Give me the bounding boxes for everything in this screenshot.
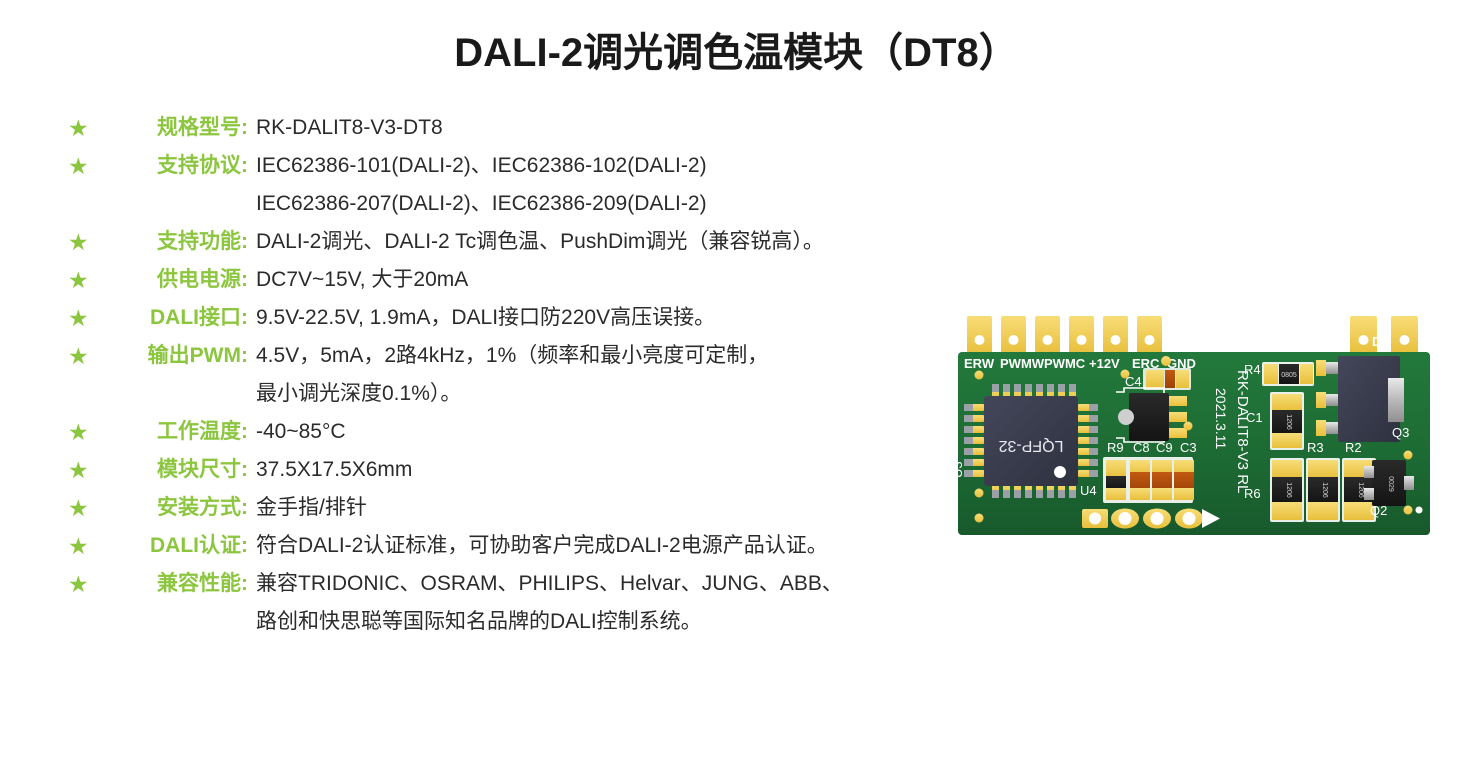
spec-value-line: IEC62386-101(DALI-2)、IEC62386-102(DALI-2… bbox=[256, 150, 1028, 182]
ref-q2: Q2 bbox=[1370, 503, 1387, 518]
spec-label: 兼容性能: bbox=[94, 568, 256, 600]
mcu-lqfp32: LQFP-32 bbox=[964, 384, 1098, 498]
spec-row-compatibility: ★ 兼容性能: 兼容TRIDONIC、OSRAM、PHILIPS、Helvar、… bbox=[68, 568, 1028, 638]
spec-label: 模块尺寸: bbox=[94, 454, 256, 486]
spec-row-mounting: ★ 安装方式: 金手指/排针 bbox=[68, 492, 1028, 524]
resistor-array-bottom: 1206 1206 1206 bbox=[1270, 458, 1376, 522]
star-icon: ★ bbox=[68, 153, 94, 179]
spec-label: 安装方式: bbox=[94, 492, 256, 524]
spec-label: 供电电源: bbox=[94, 264, 256, 296]
spec-value-line: 最小调光深度0.1%）。 bbox=[256, 378, 1028, 410]
spec-value-line: -40~85°C bbox=[256, 416, 1028, 448]
svg-text:0805: 0805 bbox=[1281, 372, 1297, 379]
pad-label-pwmc: PWMC bbox=[1044, 356, 1086, 371]
spec-row-operating-temperature: ★ 工作温度: -40~85°C bbox=[68, 416, 1028, 448]
page-title: DALI-2调光调色温模块（DT8） bbox=[0, 20, 1473, 78]
ref-r9: R9 bbox=[1107, 440, 1124, 455]
spec-row-model: ★ 规格型号: RK-DALIT8-V3-DT8 bbox=[68, 112, 1028, 144]
pad-label-da: DA bbox=[1372, 334, 1391, 349]
spec-value-line: 9.5V-22.5V, 1.9mA，DALI接口防220V高压误接。 bbox=[256, 302, 1028, 334]
star-icon: ★ bbox=[68, 495, 94, 521]
spec-row-pwm-output: ★ 输出PWM: 4.5V，5mA，2路4kHz，1%（频率和最小亮度可定制， … bbox=[68, 340, 1028, 410]
star-icon: ★ bbox=[68, 229, 94, 255]
pcb-gold-fingers bbox=[967, 316, 1418, 354]
spec-row-protocol: ★ 支持协议: IEC62386-101(DALI-2)、IEC62386-10… bbox=[68, 150, 1028, 220]
spec-value: 4.5V，5mA，2路4kHz，1%（频率和最小亮度可定制， 最小调光深度0.1… bbox=[256, 340, 1028, 410]
spec-value-line: 金手指/排针 bbox=[256, 492, 1028, 524]
capacitor-c1: 1206 bbox=[1270, 392, 1304, 450]
spec-value: DC7V~15V, 大于20mA bbox=[256, 264, 1028, 296]
silkscreen-version: RK-DALIT8-V3 RL bbox=[1234, 370, 1251, 493]
capacitor-array bbox=[1103, 457, 1194, 503]
silkscreen-date: 2021.3.11 bbox=[1213, 388, 1229, 449]
spec-label: 规格型号: bbox=[94, 112, 256, 144]
spec-value-line: DC7V~15V, 大于20mA bbox=[256, 264, 1028, 296]
spec-value-line: 兼容TRIDONIC、OSRAM、PHILIPS、Helvar、JUNG、ABB… bbox=[256, 568, 1028, 600]
spec-row-module-size: ★ 模块尺寸: 37.5X17.5X6mm bbox=[68, 454, 1028, 486]
svg-text:1206: 1206 bbox=[1357, 482, 1364, 498]
spec-value: 9.5V-22.5V, 1.9mA，DALI接口防220V高压误接。 bbox=[256, 302, 1028, 334]
spec-label: DALI接口: bbox=[94, 302, 256, 334]
ref-r3: R3 bbox=[1307, 440, 1324, 455]
spec-row-dali-certification: ★ DALI认证: 符合DALI-2认证标准，可协助客户完成DALI-2电源产品… bbox=[68, 530, 1028, 562]
specification-list: ★ 规格型号: RK-DALIT8-V3-DT8 ★ 支持协议: IEC6238… bbox=[68, 112, 1028, 644]
pcb-module-image: ERW PWMW PWMC +12V ERC GND DA bbox=[940, 300, 1450, 550]
mosfet-q3 bbox=[1316, 356, 1404, 442]
spec-value-line: DALI-2调光、DALI-2 Tc调色温、PushDim调光（兼容锐高）。 bbox=[256, 226, 1028, 258]
spec-label: DALI认证: bbox=[94, 530, 256, 562]
spec-row-power-supply: ★ 供电电源: DC7V~15V, 大于20mA bbox=[68, 264, 1028, 296]
spec-value-line: IEC62386-207(DALI-2)、IEC62386-209(DALI-2… bbox=[256, 188, 1028, 220]
ref-u3: U3 bbox=[950, 461, 965, 478]
spec-value-line: 4.5V，5mA，2路4kHz，1%（频率和最小亮度可定制， bbox=[256, 340, 1028, 372]
ref-c3: C3 bbox=[1180, 440, 1197, 455]
svg-text:0029: 0029 bbox=[1387, 476, 1394, 492]
spec-label: 工作温度: bbox=[94, 416, 256, 448]
star-icon: ★ bbox=[68, 419, 94, 445]
pad-label-pwmw: PWMW bbox=[1000, 356, 1045, 371]
spec-value: -40~85°C bbox=[256, 416, 1028, 448]
spec-value: RK-DALIT8-V3-DT8 bbox=[256, 112, 1028, 144]
spec-value-line: RK-DALIT8-V3-DT8 bbox=[256, 112, 1028, 144]
pad-label-12v: +12V bbox=[1089, 356, 1120, 371]
mcu-marking: LQFP-32 bbox=[998, 437, 1063, 454]
star-icon: ★ bbox=[68, 343, 94, 369]
spec-label: 支持功能: bbox=[94, 226, 256, 258]
pad-label-erw: ERW bbox=[964, 356, 995, 371]
ref-q3: Q3 bbox=[1392, 425, 1409, 440]
resistor-r4: 0805 bbox=[1262, 362, 1314, 386]
star-icon: ★ bbox=[68, 457, 94, 483]
ref-r4: R4 bbox=[1244, 362, 1261, 377]
spec-row-function: ★ 支持功能: DALI-2调光、DALI-2 Tc调色温、PushDim调光（… bbox=[68, 226, 1028, 258]
spec-value-line: 符合DALI-2认证标准，可协助客户完成DALI-2电源产品认证。 bbox=[256, 530, 1028, 562]
spec-label: 支持协议: bbox=[94, 150, 256, 182]
ref-r2: R2 bbox=[1345, 440, 1362, 455]
spec-value: 符合DALI-2认证标准，可协助客户完成DALI-2电源产品认证。 bbox=[256, 530, 1028, 562]
spec-value-line: 路创和快思聪等国际知名品牌的DALI控制系统。 bbox=[256, 606, 1028, 638]
spec-label: 输出PWM: bbox=[94, 340, 256, 372]
star-icon: ★ bbox=[68, 533, 94, 559]
spec-value-line: 37.5X17.5X6mm bbox=[256, 454, 1028, 486]
ref-r6: R6 bbox=[1244, 486, 1261, 501]
spec-value: 37.5X17.5X6mm bbox=[256, 454, 1028, 486]
spec-value: DALI-2调光、DALI-2 Tc调色温、PushDim调光（兼容锐高）。 bbox=[256, 226, 1028, 258]
svg-text:1206: 1206 bbox=[1321, 482, 1328, 498]
ref-u4: U4 bbox=[1080, 483, 1097, 498]
ref-c1: C1 bbox=[1246, 410, 1263, 425]
spec-row-dali-interface: ★ DALI接口: 9.5V-22.5V, 1.9mA，DALI接口防220V高… bbox=[68, 302, 1028, 334]
star-icon: ★ bbox=[68, 267, 94, 293]
spec-value: 金手指/排针 bbox=[256, 492, 1028, 524]
spec-value: IEC62386-101(DALI-2)、IEC62386-102(DALI-2… bbox=[256, 150, 1028, 220]
star-icon: ★ bbox=[68, 305, 94, 331]
svg-text:1206: 1206 bbox=[1285, 482, 1292, 498]
svg-text:1206: 1206 bbox=[1285, 414, 1292, 430]
spec-value: 兼容TRIDONIC、OSRAM、PHILIPS、Helvar、JUNG、ABB… bbox=[256, 568, 1028, 638]
star-icon: ★ bbox=[68, 571, 94, 597]
star-icon: ★ bbox=[68, 115, 94, 141]
